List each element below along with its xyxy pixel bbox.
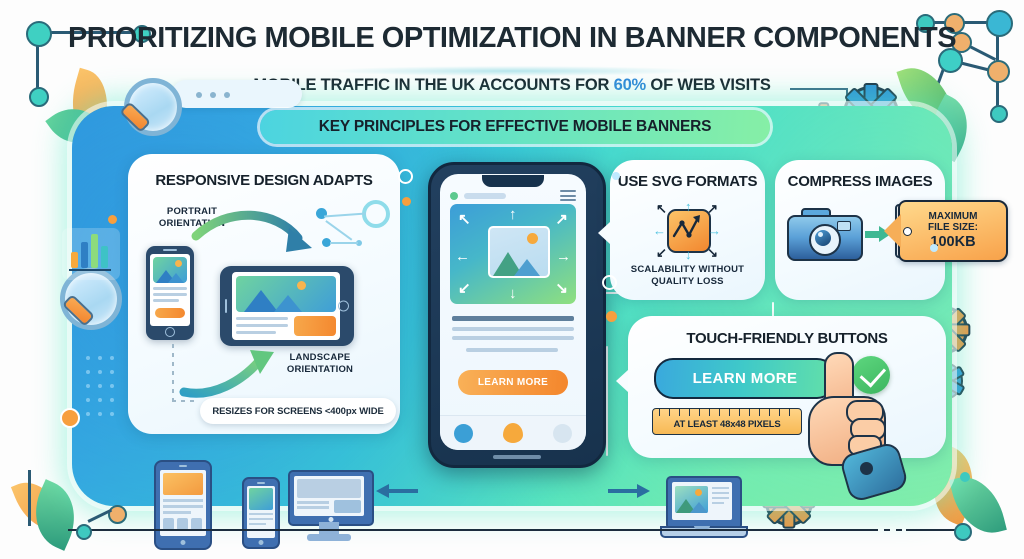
- baseline-end-dot: [954, 523, 972, 541]
- arrow-right-icon: →: [556, 249, 571, 264]
- ruler-label: AT LEAST 48x48 PIXELS: [673, 419, 780, 430]
- camera-icon: [787, 208, 859, 258]
- pointing-hand-icon: [800, 352, 912, 502]
- card-responsive-design: RESPONSIVE DESIGN ADAPTS PORTRAIT ORIENT…: [128, 154, 400, 434]
- dot-grid-decoration: [86, 356, 134, 476]
- arrow-up-right-icon: ↗: [555, 212, 568, 227]
- resize-note-label: RESIZES FOR SCREENS <400px WIDE: [212, 406, 383, 417]
- baseline-rule: [160, 529, 872, 531]
- arrow-up-icon: ↑: [509, 207, 517, 222]
- arrow-right-icon: [608, 484, 650, 498]
- decor-dot: [960, 472, 970, 482]
- magnifying-glass-icon: [110, 78, 182, 150]
- arrow-left-icon: ←: [455, 249, 470, 264]
- decor-dot: [606, 311, 617, 322]
- phone-landscape-mockup: [220, 266, 354, 346]
- landscape-orientation-label: LANDSCAPE ORIENTATION: [270, 352, 370, 376]
- decor-dot: [398, 169, 413, 184]
- phone-notch: [482, 175, 544, 187]
- decor-dot: [60, 408, 80, 428]
- title-glow: [330, 66, 695, 76]
- decor-dot: [602, 275, 617, 290]
- card-touch-heading: TOUCH-FRIENDLY BUTTONS: [628, 330, 946, 347]
- arrow-down-left-icon: ↙: [458, 281, 471, 296]
- card-use-svg-formats: USE SVG FORMATS ↑ ↓ ← → ↖ ↗ ↙ ↘ SCALABIL…: [610, 160, 765, 300]
- phone-portrait-mockup: [146, 246, 194, 340]
- subtitle-pre: MOBILE TRAFFIC IN THE UK ACCOUNTS FOR: [253, 76, 613, 94]
- dotted-connector: [172, 344, 174, 400]
- tag-line1: MAXIMUM: [929, 211, 978, 223]
- laptop-icon: [660, 476, 744, 542]
- card-svg-heading: USE SVG FORMATS: [610, 173, 765, 190]
- content-line: [466, 348, 558, 352]
- tab-pill-dot: [224, 92, 230, 98]
- maximum-file-size-tag: MAXIMUM FILE SIZE: 100KB: [898, 200, 1008, 262]
- decor-dot: [930, 244, 938, 252]
- infographic-root: PRIORITIZING MOBILE OPTIMIZATION IN BANN…: [0, 0, 1024, 559]
- tablet-icon: [154, 460, 212, 550]
- tab-icon-profile[interactable]: [553, 424, 572, 443]
- header-placeholder-line: [464, 193, 506, 199]
- subtitle-highlight: 60%: [614, 76, 646, 94]
- corner-bracket-bottom-left: [28, 470, 31, 526]
- subtitle-post: OF WEB VISITS: [646, 76, 771, 94]
- decor-dot: [612, 172, 620, 180]
- arrow-up-left-icon: ↖: [458, 212, 471, 227]
- phone-tab-bar: [440, 415, 586, 450]
- key-principles-banner: KEY PRINCIPLES FOR EFFECTIVE MOBILE BANN…: [260, 110, 770, 144]
- bar-chart-icon: [62, 228, 120, 280]
- ruler-min-size-badge: AT LEAST 48x48 PIXELS: [652, 408, 802, 435]
- smartphone-icon: [242, 477, 280, 549]
- connector-line: [606, 346, 608, 456]
- responsive-banner-area: ↑ ↓ ← → ↖ ↗ ↙ ↘: [450, 204, 576, 304]
- tab-pill-dot: [196, 92, 202, 98]
- content-line: [452, 336, 574, 340]
- hero-phone-mockup: ↑ ↓ ← → ↖ ↗ ↙ ↘ LEARN MORE: [428, 162, 606, 468]
- tag-hole: [903, 227, 912, 236]
- card-responsive-heading: RESPONSIVE DESIGN ADAPTS: [128, 172, 400, 189]
- tab-pill-dot: [210, 92, 216, 98]
- svg-scalability-icon: ↑ ↓ ← → ↖ ↗ ↙ ↘: [654, 202, 720, 258]
- decor-dot: [402, 197, 411, 206]
- page-title: PRIORITIZING MOBILE OPTIMIZATION IN BANN…: [0, 22, 1024, 55]
- dotted-connector: [172, 400, 198, 402]
- hero-learn-more-button[interactable]: LEARN MORE: [458, 370, 568, 395]
- ruler-ticks: [653, 409, 801, 418]
- network-gear-decoration: [310, 198, 384, 252]
- subtitle-rule-right: [790, 88, 848, 90]
- key-principles-label: KEY PRINCIPLES FOR EFFECTIVE MOBILE BANN…: [319, 118, 711, 136]
- arrow-down-right-icon: ↘: [555, 281, 568, 296]
- hamburger-menu-icon[interactable]: [560, 190, 576, 201]
- card-notch: [598, 222, 610, 244]
- card-notch: [616, 370, 628, 392]
- image-placeholder-icon: [488, 226, 550, 278]
- card-compress-heading: COMPRESS IMAGES: [775, 173, 945, 190]
- resize-note-pill: RESIZES FOR SCREENS <400px WIDE: [200, 398, 396, 424]
- phone-home-indicator: [493, 455, 541, 459]
- decor-dot: [108, 215, 117, 224]
- desktop-monitor-icon: [288, 470, 370, 542]
- arrow-left-icon: [376, 484, 418, 498]
- tab-icon-home[interactable]: [454, 424, 473, 443]
- arrow-down-icon: ↓: [509, 286, 517, 301]
- tab-icon-center[interactable]: [503, 423, 523, 443]
- tab-pill-decoration: [172, 80, 302, 108]
- touch-cta-label: LEARN MORE: [693, 370, 798, 387]
- baseline-rule-dashed: [130, 529, 164, 531]
- content-line: [452, 316, 574, 321]
- hero-phone-screen: ↑ ↓ ← → ↖ ↗ ↙ ↘ LEARN MORE: [440, 174, 586, 450]
- content-line: [452, 327, 574, 331]
- baseline-end-dot: [76, 524, 92, 540]
- svg-caption: SCALABILITY WITHOUT QUALITY LOSS: [610, 264, 765, 288]
- avatar-dot: [450, 192, 458, 200]
- arrow-portrait-to-landscape: [190, 208, 320, 270]
- hero-cta-label: LEARN MORE: [478, 377, 548, 388]
- tag-line2: FILE SIZE:: [928, 222, 978, 234]
